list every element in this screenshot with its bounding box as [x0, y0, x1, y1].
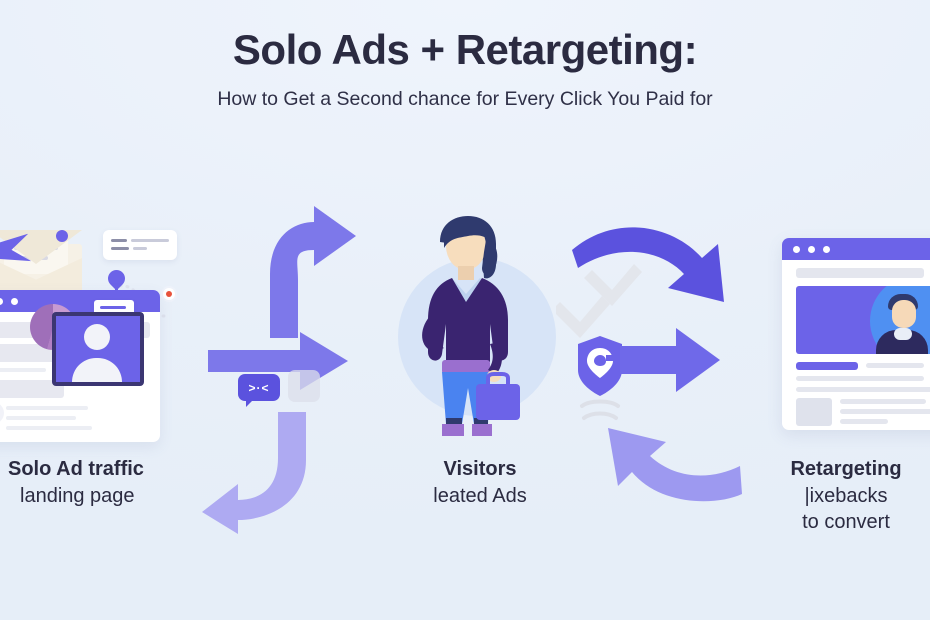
- tooltip-text-line: [111, 247, 129, 250]
- content-line: [840, 409, 930, 414]
- standing-person: [390, 212, 570, 452]
- straight-arrow-right-icon: [620, 328, 720, 392]
- right-illustration: [782, 238, 930, 438]
- infographic-canvas: Solo Ads + Retargeting: How to Get a Sec…: [0, 0, 930, 620]
- browser-window-right: [782, 238, 930, 430]
- content-line: [840, 419, 888, 424]
- send-icon: [0, 402, 4, 424]
- caption-retargeting: Retargeting |ixebacks to convert: [762, 456, 930, 536]
- caption-line-3: to convert: [762, 509, 930, 536]
- window-dot: [793, 246, 800, 253]
- window-dot: [11, 298, 18, 305]
- content-line: [6, 426, 92, 430]
- purple-dot-icon: [56, 230, 68, 242]
- avatar-card: [52, 312, 144, 386]
- signal-wave-icon: [582, 402, 618, 407]
- envelope-icon: [0, 230, 82, 294]
- caption-line-2: |ixebacks: [762, 483, 930, 510]
- caption-line-1: Retargeting: [762, 456, 930, 483]
- arrows-right-svg: [556, 206, 786, 516]
- browser-title-bar: [782, 238, 930, 260]
- curved-arrow-up-right-icon: [270, 206, 356, 338]
- page-title: Solo Ads + Retargeting:: [0, 26, 930, 74]
- avatar-body: [72, 358, 122, 386]
- thumbnail-block: [796, 398, 832, 426]
- curved-arrow-right-icon: [572, 227, 724, 302]
- content-line: [840, 399, 926, 404]
- caption-line-2: leated Ads: [372, 483, 588, 510]
- portrait-head: [892, 300, 916, 328]
- ghost-square-icon: [288, 370, 320, 402]
- header: Solo Ads + Retargeting: How to Get a Sec…: [0, 26, 930, 111]
- caption-line-2: landing page: [2, 483, 228, 510]
- tooltip-text-line: [133, 247, 147, 250]
- window-dot: [808, 246, 815, 253]
- article-title-bar: [796, 362, 858, 370]
- caption-visitors: Visitors leated Ads: [372, 456, 588, 509]
- page-subtitle: How to Get a Second chance for Every Cli…: [0, 88, 930, 111]
- left-illustration: [0, 212, 214, 452]
- content-line: [6, 406, 88, 410]
- center-illustration: [390, 212, 570, 452]
- tooltip-text-line: [131, 239, 169, 242]
- window-dot: [0, 298, 3, 305]
- signal-wave-icon: [584, 414, 616, 419]
- banner-portrait: [796, 286, 930, 354]
- content-line: [796, 376, 924, 381]
- curved-arrow-up-left-icon: [608, 428, 742, 501]
- page-heading-block: [796, 268, 924, 278]
- caption-line-1: Visitors: [372, 456, 588, 483]
- red-dot-icon: [163, 288, 175, 300]
- content-line: [0, 368, 46, 372]
- tooltip-text-line: [111, 239, 127, 242]
- chat-bubble-badge: >·<: [238, 374, 280, 401]
- portrait-collar: [894, 328, 912, 340]
- caption-line-1: Solo Ad traffic: [2, 456, 228, 483]
- arrow-group-right: [556, 206, 786, 516]
- tooltip-card: [103, 230, 177, 260]
- mini-card-line: [100, 306, 126, 309]
- check-chevron-icon: [584, 264, 642, 306]
- avatar-head: [84, 324, 110, 350]
- content-line: [6, 416, 76, 420]
- caption-solo-ad-traffic: Solo Ad traffic landing page: [2, 456, 228, 509]
- content-line: [866, 363, 924, 368]
- browser-title-bar: [0, 290, 160, 312]
- content-line: [796, 387, 930, 392]
- shield-icon: [578, 336, 622, 396]
- window-dot: [823, 246, 830, 253]
